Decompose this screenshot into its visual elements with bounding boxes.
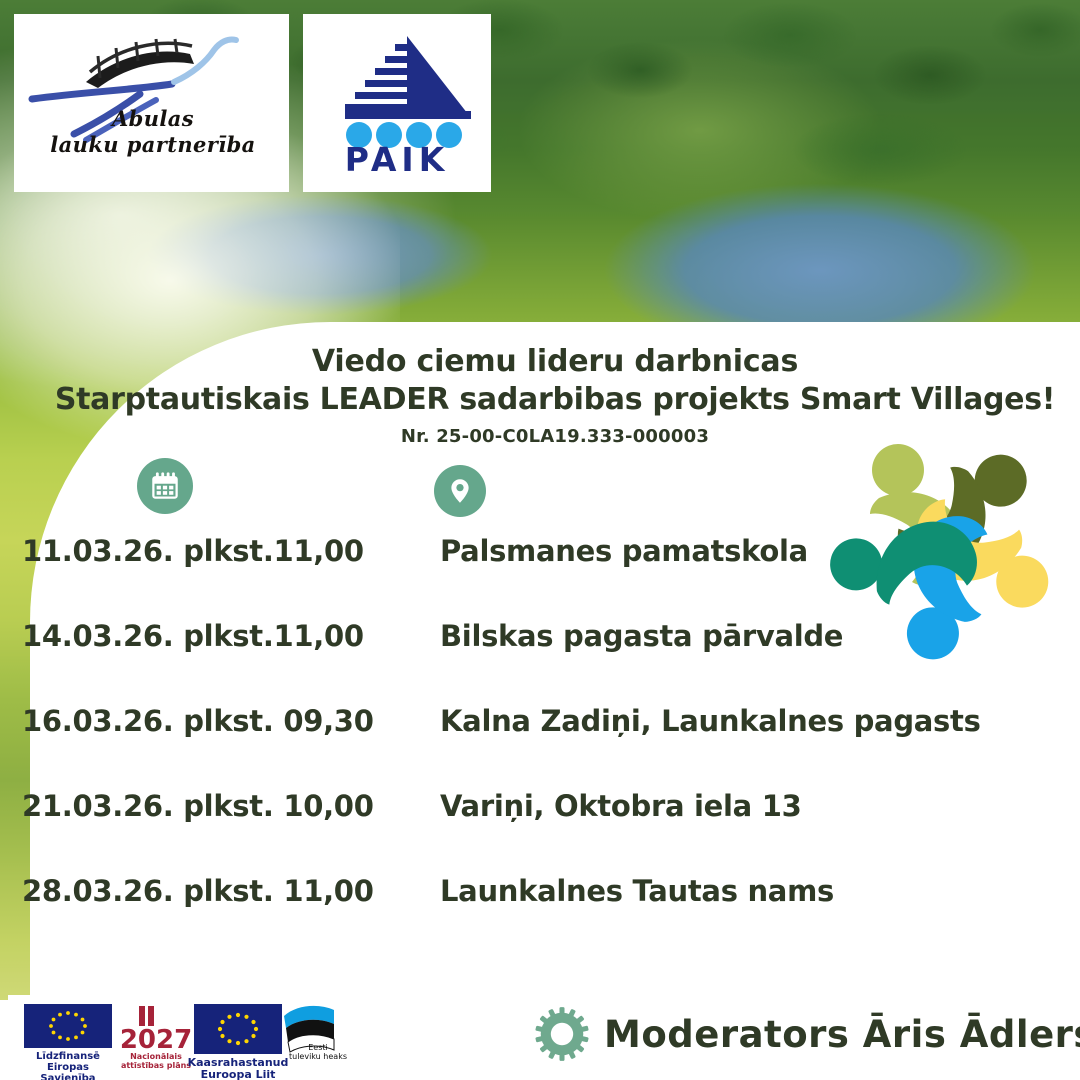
svg-text:2027: 2027: [120, 1025, 192, 1052]
eu-stars: [194, 1004, 282, 1054]
moderator-name: Moderators Āris Ādlers: [604, 1013, 1080, 1056]
moderator-block: Moderators Āris Ādlers: [534, 1006, 1080, 1062]
label-line-2: Eiropas Savienība: [18, 1062, 118, 1080]
eesti-tuleviku-heaks-logo: Eesti tuleviku heaks: [278, 1002, 358, 1080]
calendar-icon: [137, 458, 193, 514]
schedule-row: 16.03.26. plkst. 09,30 Kalna Zadiņi, Lau…: [0, 704, 1010, 789]
poster-canvas: Abulas lauku partnerība PAIK Vie: [0, 0, 1080, 1080]
eu-cofunded-ee-label: Kaasrahastanud Euroopa Liit: [186, 1057, 290, 1080]
label-line-2: Euroopa Liit: [186, 1069, 290, 1080]
abulas-lauku-partneriba-logo: Abulas lauku partnerība: [14, 14, 289, 192]
schedule-place: Kalna Zadiņi, Launkalnes pagasts: [440, 704, 1010, 738]
schedule-row: 21.03.26. plkst. 10,00 Variņi, Oktobra i…: [0, 789, 1010, 874]
pin-glyph: [445, 476, 475, 506]
schedule-date: 11.03.26. plkst.11,00: [0, 534, 440, 568]
schedule-date: 21.03.26. plkst. 10,00: [0, 789, 440, 823]
eu-flag-icon: [24, 1004, 112, 1048]
bridge-over-river-icon: [14, 14, 289, 192]
calendar-glyph: [148, 469, 182, 503]
eesti-label: Eesti tuleviku heaks: [278, 1044, 358, 1062]
label-line-1: Līdzfinansē: [18, 1051, 118, 1062]
eu-cofunded-lv-label: Līdzfinansē Eiropas Savienība: [18, 1051, 118, 1080]
label-line-2: tuleviku heaks: [278, 1053, 358, 1062]
schedule-date: 28.03.26. plkst. 11,00: [0, 874, 440, 908]
abulas-wordmark: Abulas lauku partnerība: [28, 106, 278, 157]
heading-line-2: Starptautiskais LEADER sadarbibas projek…: [30, 383, 1080, 417]
schedule-date: 16.03.26. plkst. 09,30: [0, 704, 440, 738]
eu-cofunded-ee-logo: Kaasrahastanud Euroopa Liit: [186, 1004, 290, 1080]
smart-villages-people-circle-logo: [824, 428, 1060, 664]
location-pin-icon: [434, 465, 486, 517]
heading-line-1: Viedo ciemu lideru darbnicas: [30, 345, 1080, 379]
schedule-place: Launkalnes Tautas nams: [440, 874, 1010, 908]
paik-wordmark: PAIK: [303, 140, 491, 179]
paik-logo: PAIK: [303, 14, 491, 192]
schedule-row: 28.03.26. plkst. 11,00 Launkalnes Tautas…: [0, 874, 1010, 959]
eu-flag-icon: [194, 1004, 282, 1054]
eu-cofunded-lv-logo: Līdzfinansē Eiropas Savienība: [18, 1004, 118, 1080]
schedule-place: Variņi, Oktobra iela 13: [440, 789, 1010, 823]
gear-icon: [534, 1006, 590, 1062]
eu-stars: [24, 1004, 112, 1048]
schedule-date: 14.03.26. plkst.11,00: [0, 619, 440, 653]
